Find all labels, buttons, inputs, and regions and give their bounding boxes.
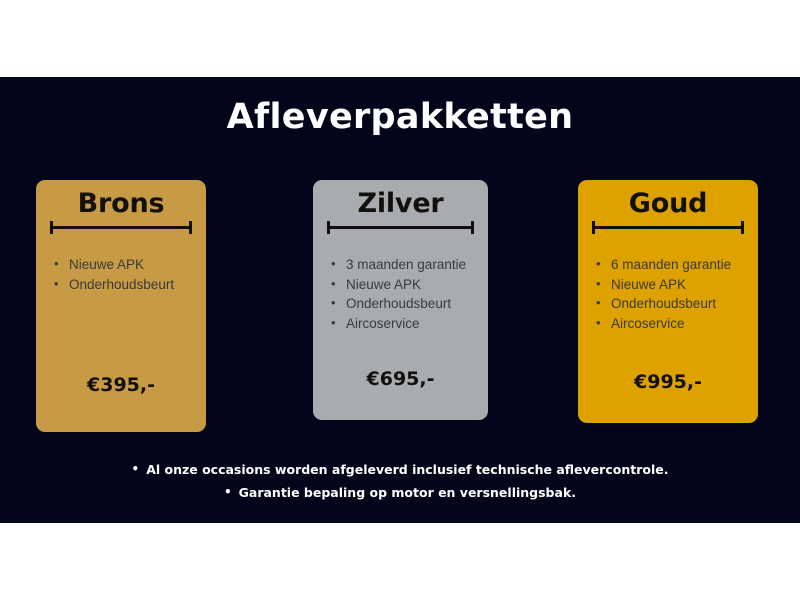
feature-list-brons: Nieuwe APK Onderhoudsbeurt [36, 233, 206, 294]
feature-list-goud: 6 maanden garantie Nieuwe APK Onderhouds… [578, 233, 758, 333]
dimension-line-icon [592, 221, 744, 233]
list-item: Onderhoudsbeurt [54, 275, 206, 295]
slide-canvas: Afleverpakketten Brons Nieuwe APK Onderh… [0, 0, 800, 600]
list-item: Nieuwe APK [596, 275, 758, 295]
bullet-icon: • [224, 481, 232, 504]
list-item: Onderhoudsbeurt [596, 294, 758, 314]
package-price-zilver: €695,- [313, 368, 488, 390]
list-item: Nieuwe APK [331, 275, 488, 295]
dimension-line-right-cap [471, 221, 474, 234]
bullet-icon: • [132, 458, 140, 481]
footer-note: •Al onze occasions worden afgeleverd inc… [0, 458, 800, 481]
footer-note-text: Garantie bepaling op motor en versnellin… [239, 485, 576, 500]
package-card-zilver[interactable]: Zilver 3 maanden garantie Nieuwe APK Ond… [313, 180, 488, 420]
list-item: Nieuwe APK [54, 255, 206, 275]
package-card-list: Brons Nieuwe APK Onderhoudsbeurt €395,- … [0, 180, 800, 435]
package-price-goud: €995,- [578, 371, 758, 393]
dimension-line-bar [592, 226, 744, 229]
package-title-goud: Goud [578, 190, 758, 218]
list-item: Onderhoudsbeurt [331, 294, 488, 314]
footer-note: •Garantie bepaling op motor en versnelli… [0, 481, 800, 504]
package-title-zilver: Zilver [313, 190, 488, 218]
footer-note-text: Al onze occasions worden afgeleverd incl… [146, 462, 668, 477]
package-card-brons[interactable]: Brons Nieuwe APK Onderhoudsbeurt €395,- [36, 180, 206, 432]
footer-note-list: •Al onze occasions worden afgeleverd inc… [0, 458, 800, 504]
list-item: Aircoservice [596, 314, 758, 334]
feature-list-zilver: 3 maanden garantie Nieuwe APK Onderhouds… [313, 233, 488, 333]
package-title-brons: Brons [36, 190, 206, 218]
dimension-line-right-cap [741, 221, 744, 234]
list-item: Aircoservice [331, 314, 488, 334]
dimension-line-bar [50, 226, 192, 229]
package-price-brons: €395,- [36, 374, 206, 396]
dimension-line-icon [50, 221, 192, 233]
dimension-line-bar [327, 226, 474, 229]
dimension-line-icon [327, 221, 474, 233]
list-item: 3 maanden garantie [331, 255, 488, 275]
dimension-line-right-cap [189, 221, 192, 234]
package-card-goud[interactable]: Goud 6 maanden garantie Nieuwe APK Onder… [578, 180, 758, 423]
list-item: 6 maanden garantie [596, 255, 758, 275]
page-title: Afleverpakketten [0, 97, 800, 137]
